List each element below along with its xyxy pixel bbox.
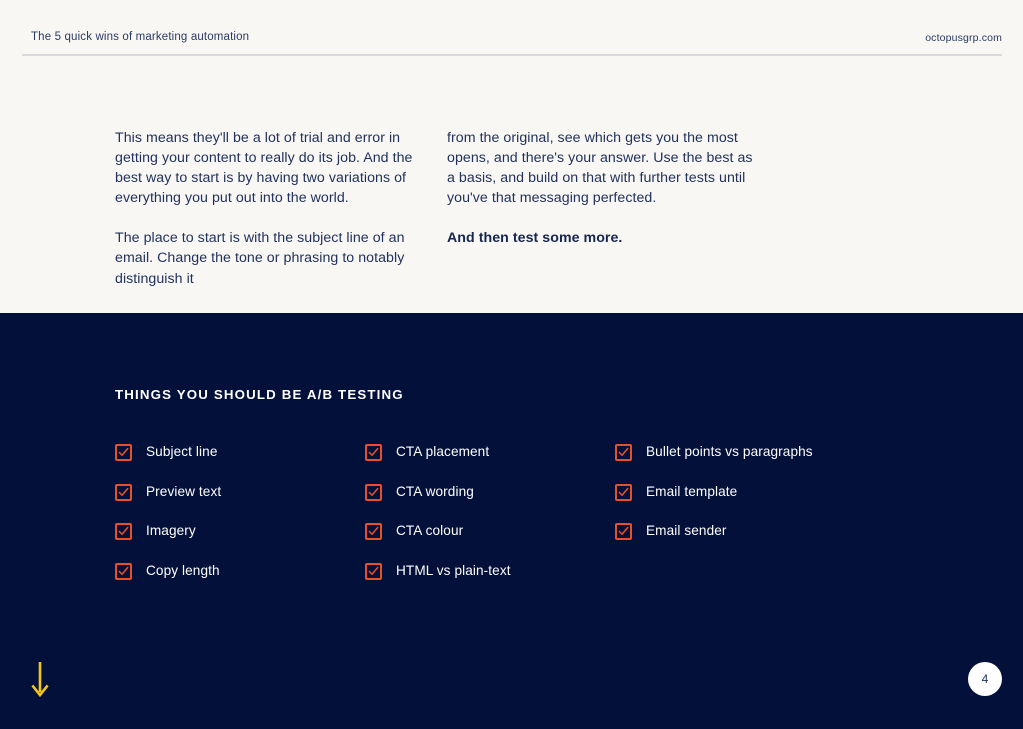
- checklist-item[interactable]: CTA colour: [365, 522, 511, 562]
- checklist-section: THINGS YOU SHOULD BE A/B TESTING Subject…: [0, 313, 1023, 729]
- checklist-item-label: CTA placement: [396, 443, 489, 461]
- checklist-item[interactable]: Email template: [615, 483, 813, 523]
- checklist-item-label: Email sender: [646, 522, 727, 540]
- checkbox-checked-icon[interactable]: [365, 484, 382, 501]
- checklist-column: Bullet points vs paragraphs Email templa…: [615, 443, 813, 562]
- checklist-item[interactable]: Copy length: [115, 562, 221, 602]
- checklist-item[interactable]: Email sender: [615, 522, 813, 562]
- paragraph-emphasis: And then test some more.: [447, 228, 759, 248]
- checklist-item[interactable]: CTA placement: [365, 443, 511, 483]
- checklist-column: CTA placement CTA wording CTA colour HTM…: [365, 443, 511, 601]
- checkbox-checked-icon[interactable]: [115, 484, 132, 501]
- checkbox-checked-icon[interactable]: [115, 563, 132, 580]
- checkbox-checked-icon[interactable]: [615, 444, 632, 461]
- checkbox-checked-icon[interactable]: [615, 523, 632, 540]
- header-title: The 5 quick wins of marketing automation: [31, 31, 249, 43]
- paragraph: from the original, see which gets you th…: [447, 128, 759, 208]
- checklist-item[interactable]: Preview text: [115, 483, 221, 523]
- checklist-item-label: HTML vs plain-text: [396, 562, 511, 580]
- checklist-item-label: Email template: [646, 483, 737, 501]
- header-domain: octopusgrp.com: [925, 32, 1002, 44]
- checklist-item[interactable]: Imagery: [115, 522, 221, 562]
- arrow-down-icon[interactable]: [31, 661, 49, 701]
- paragraph: This means they'll be a lot of trial and…: [115, 128, 427, 208]
- checklist-item-label: CTA wording: [396, 483, 474, 501]
- checklist-item[interactable]: HTML vs plain-text: [365, 562, 511, 602]
- checkbox-checked-icon[interactable]: [115, 444, 132, 461]
- checklist-item-label: Subject line: [146, 443, 217, 461]
- checklist-item-label: Preview text: [146, 483, 221, 501]
- checklist-heading: THINGS YOU SHOULD BE A/B TESTING: [115, 387, 404, 402]
- checklist-item[interactable]: Subject line: [115, 443, 221, 483]
- checklist-item[interactable]: CTA wording: [365, 483, 511, 523]
- page-number-badge: 4: [968, 662, 1002, 696]
- checklist-column: Subject line Preview text Imagery Copy l…: [115, 443, 221, 601]
- checklist-item[interactable]: Bullet points vs paragraphs: [615, 443, 813, 483]
- checkbox-checked-icon[interactable]: [615, 484, 632, 501]
- checklist-item-label: Bullet points vs paragraphs: [646, 443, 813, 461]
- checklist-item-label: Imagery: [146, 522, 196, 540]
- checkbox-checked-icon[interactable]: [365, 563, 382, 580]
- page-header: The 5 quick wins of marketing automation…: [0, 0, 1023, 54]
- text-column-right: from the original, see which gets you th…: [447, 128, 759, 248]
- paragraph: The place to start is with the subject l…: [115, 228, 427, 288]
- checkbox-checked-icon[interactable]: [115, 523, 132, 540]
- slide-page: The 5 quick wins of marketing automation…: [0, 0, 1023, 729]
- checklist-item-label: Copy length: [146, 562, 220, 580]
- text-column-left: This means they'll be a lot of trial and…: [115, 128, 427, 289]
- checkbox-checked-icon[interactable]: [365, 523, 382, 540]
- checklist-item-label: CTA colour: [396, 522, 463, 540]
- checkbox-checked-icon[interactable]: [365, 444, 382, 461]
- header-divider: [22, 54, 1002, 56]
